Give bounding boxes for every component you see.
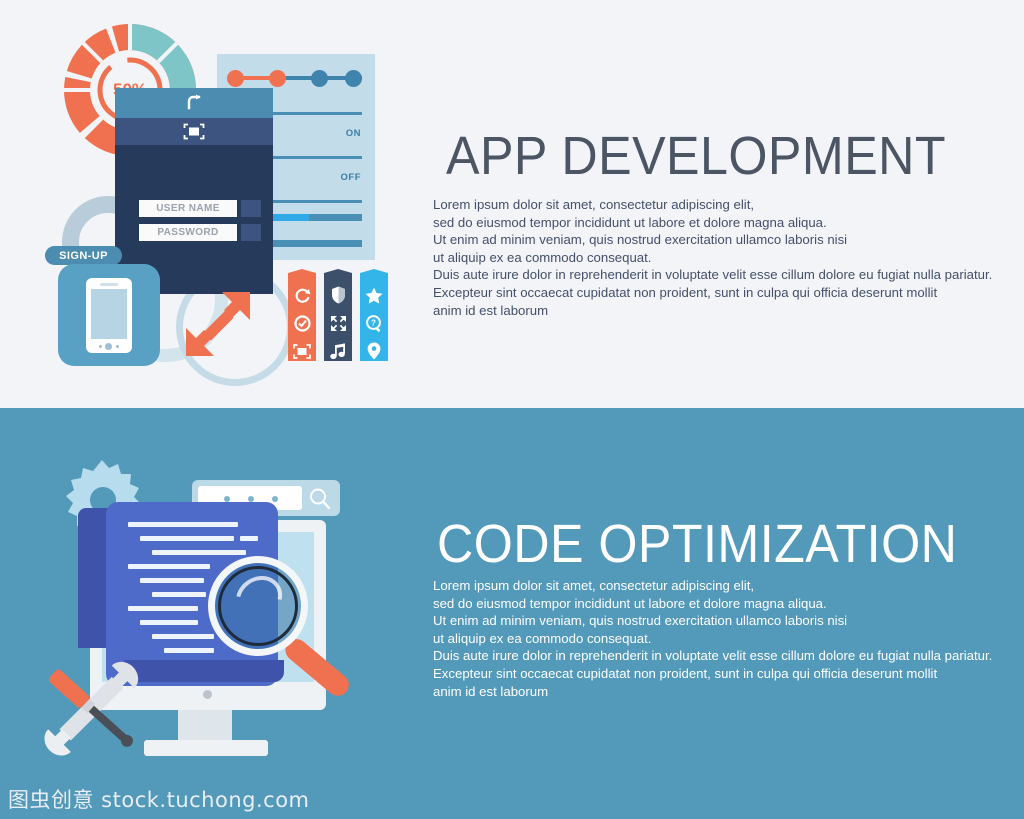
code-line <box>240 536 258 541</box>
search-help-icon[interactable]: ? <box>360 311 388 335</box>
redo-arrow-icon[interactable] <box>115 94 273 116</box>
expand-icon[interactable] <box>324 311 352 335</box>
slider-dot-2[interactable] <box>269 70 286 87</box>
watermark: 图虫创意 stock.tuchong.com <box>8 784 310 814</box>
body-line: Excepteur sint occaecat cupidatat non pr… <box>433 665 992 683</box>
code-line <box>140 620 198 625</box>
body-line: sed do eiusmod tempor incididunt ut labo… <box>433 214 992 232</box>
code-line <box>140 536 234 541</box>
body-line: sed do eiusmod tempor incididunt ut labo… <box>433 595 992 613</box>
search-dot-3 <box>272 496 278 502</box>
code-line <box>128 522 238 527</box>
music-note-icon[interactable] <box>324 339 352 363</box>
signup-button[interactable]: SIGN-UP <box>45 246 122 265</box>
app-development-illustration: 50% ON OFF <box>0 0 420 408</box>
fullscreen-frame-icon[interactable] <box>115 123 273 145</box>
app-development-title-block: APP DEVELOPMENT <box>446 129 984 183</box>
page-title-code-optimization: CODE OPTIMIZATION <box>437 517 957 571</box>
username-field-affix <box>241 200 261 217</box>
password-field-affix <box>241 224 261 241</box>
smartphone-speaker <box>100 283 118 286</box>
icon-strip-blue: ? <box>360 269 388 361</box>
monitor-base <box>144 740 268 756</box>
code-line <box>128 564 210 569</box>
page-title-app-development: APP DEVELOPMENT <box>446 129 946 183</box>
monitor-neck <box>178 710 232 740</box>
code-line <box>164 648 214 653</box>
body-line: Excepteur sint occaecat cupidatat non pr… <box>433 284 992 302</box>
image-icon[interactable] <box>288 339 316 363</box>
star-icon[interactable] <box>360 283 388 307</box>
shield-icon[interactable] <box>324 283 352 307</box>
smartphone-dot-left <box>99 345 102 348</box>
slider-dot-1[interactable] <box>227 70 244 87</box>
code-line <box>152 550 246 555</box>
body-line: Lorem ipsum dolor sit amet, consectetur … <box>433 577 992 595</box>
magnifier-icon <box>208 556 308 656</box>
icon-strip-orange <box>288 269 316 361</box>
location-pin-icon[interactable] <box>360 339 388 363</box>
resize-diagonal-arrows-icon <box>178 284 258 364</box>
code-optimization-body: Lorem ipsum dolor sit amet, consectetur … <box>433 577 992 700</box>
icon-strip-dark <box>324 269 352 361</box>
clock-check-icon[interactable] <box>288 311 316 335</box>
body-line: ut aliquip ex ea commodo consequat. <box>433 249 992 267</box>
body-line: Ut enim ad minim veniam, quis nostrud ex… <box>433 612 992 630</box>
monitor-power-dot <box>203 690 212 699</box>
code-line <box>152 634 214 639</box>
body-line: Lorem ipsum dolor sit amet, consectetur … <box>433 196 992 214</box>
code-line <box>140 578 204 583</box>
app-development-body: Lorem ipsum dolor sit amet, consectetur … <box>433 196 992 319</box>
body-line: Duis aute irure dolor in reprehenderit i… <box>433 647 992 665</box>
body-line: anim id est laborum <box>433 302 992 320</box>
smartphone-screen <box>91 289 127 339</box>
section-app-development: 50% ON OFF <box>0 0 1024 408</box>
svg-text:?: ? <box>371 318 376 327</box>
slider-dot-4[interactable] <box>345 70 362 87</box>
toggle-off-label: OFF <box>341 172 362 183</box>
body-line: Ut enim ad minim veniam, quis nostrud ex… <box>433 231 992 249</box>
slider-dot-3[interactable] <box>311 70 328 87</box>
body-line: anim id est laborum <box>433 683 992 701</box>
tools-group <box>32 652 152 764</box>
search-icon[interactable] <box>308 487 332 516</box>
poster-canvas: 50% ON OFF <box>0 0 1024 819</box>
body-line: Duis aute irure dolor in reprehenderit i… <box>433 266 992 284</box>
code-line <box>152 592 206 597</box>
code-optimization-title-block: CODE OPTIMIZATION <box>437 517 997 571</box>
code-line <box>128 606 198 611</box>
smartphone-home-button <box>105 343 112 350</box>
smartphone-dot-right <box>116 345 119 348</box>
password-field[interactable]: PASSWORD <box>139 224 237 241</box>
smartphone-icon <box>86 278 132 353</box>
refresh-icon[interactable] <box>288 283 316 307</box>
toggle-on-label: ON <box>346 128 361 139</box>
body-line: ut aliquip ex ea commodo consequat. <box>433 630 992 648</box>
smartphone-tile[interactable] <box>58 264 160 366</box>
username-field[interactable]: USER NAME <box>139 200 237 217</box>
